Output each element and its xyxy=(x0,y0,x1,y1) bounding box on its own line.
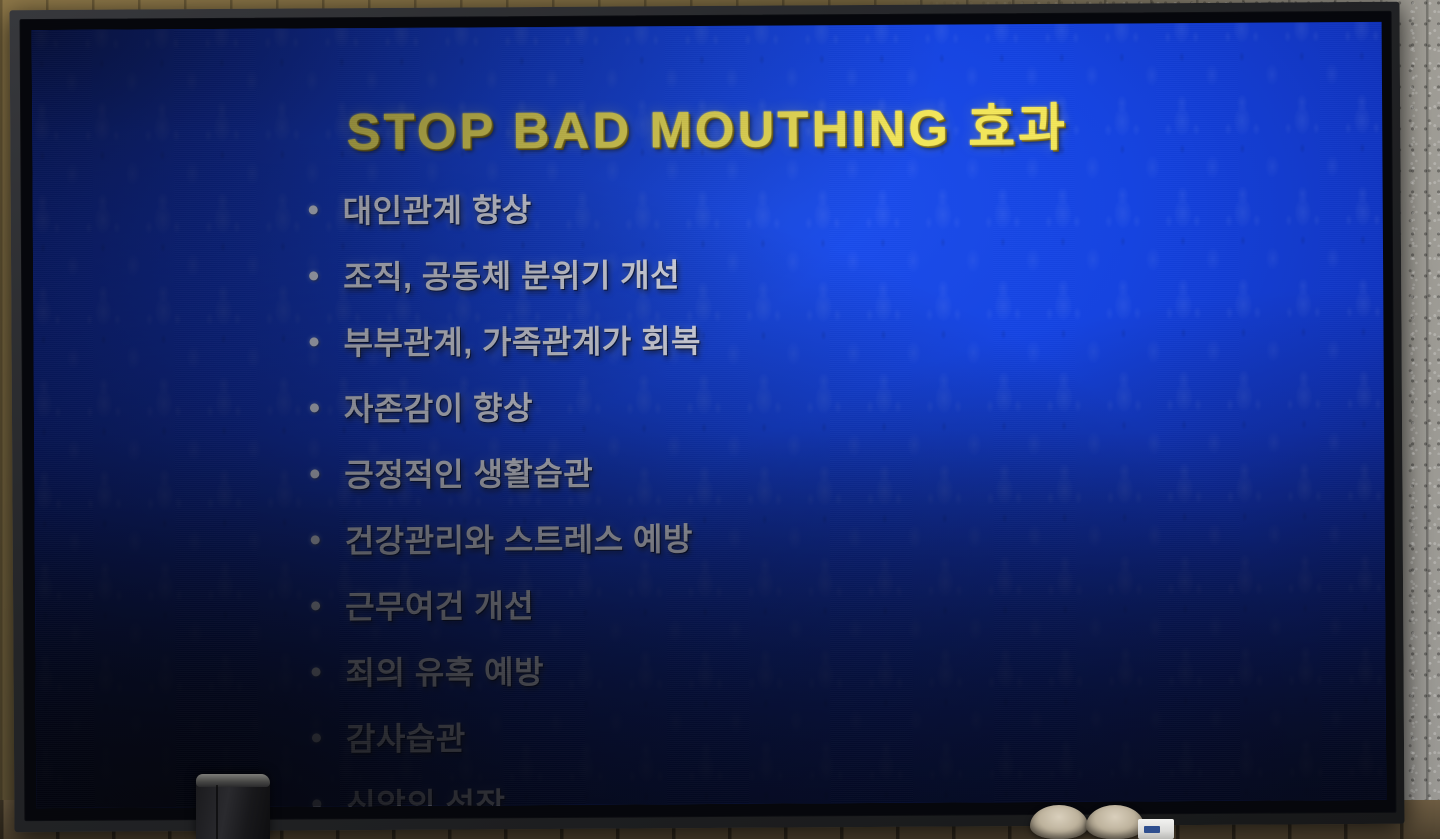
photograph-of-presentation-screen: STOP BAD MOUTHING 효과 대인관계 향상 조직, 공동체 분위기… xyxy=(0,0,1440,839)
tv-bezel: STOP BAD MOUTHING 효과 대인관계 향상 조직, 공동체 분위기… xyxy=(10,2,1405,832)
shoe-left xyxy=(1030,805,1088,839)
tv-screen: STOP BAD MOUTHING 효과 대인관계 향상 조직, 공동체 분위기… xyxy=(32,22,1387,808)
speaker-edge-seam xyxy=(216,785,218,839)
small-white-box xyxy=(1138,819,1174,839)
shoe-right xyxy=(1086,805,1144,839)
tv-inner-edge: STOP BAD MOUTHING 효과 대인관계 향상 조직, 공동체 분위기… xyxy=(20,11,1397,821)
speaker-stand xyxy=(196,774,270,839)
speaker-top-surface xyxy=(196,774,270,787)
small-box-label xyxy=(1144,826,1160,833)
screen-vignette xyxy=(32,22,1387,808)
